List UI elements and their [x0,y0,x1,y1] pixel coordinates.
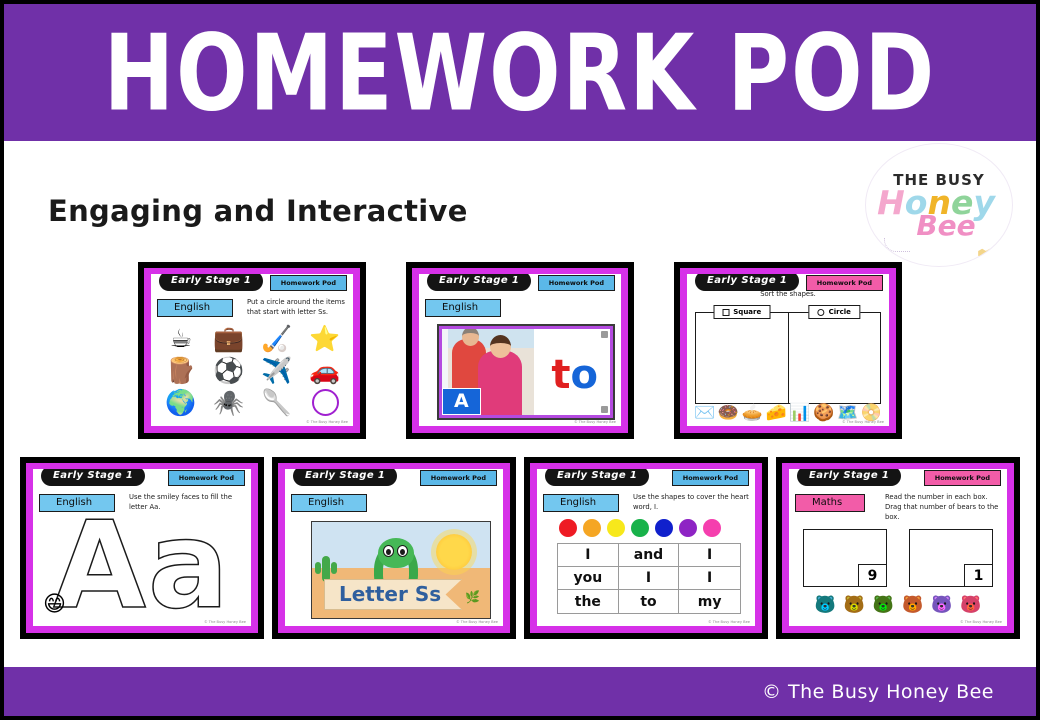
card-row-top: Early Stage 1 Homework Pod English Put a… [4,262,1036,439]
bear-counter-red[interactable]: 🐻 [960,597,981,614]
smiley-face-icon[interactable]: 😄 [43,594,66,616]
sorting-area: Square Circle [695,312,881,404]
stage-badge: Early Stage 1 [545,469,649,486]
bear-counters-row: 🐻 🐻 🐻 🐻 🐻 🐻 [789,597,1007,614]
card-content: Early Stage 1 Homework Pod Maths Read th… [789,469,1007,626]
spoon-icon[interactable]: 🥄 [261,390,292,415]
number-box[interactable]: 9 [803,529,887,587]
donut-icon[interactable]: 🍩 [718,405,739,422]
card-content: Early Stage 1 Homework Pod English Use t… [537,469,755,626]
instruction-text: Read the number in each box. Drag that n… [885,493,1001,523]
circle-icon [818,309,825,316]
stage-badge: Early Stage 1 [797,469,901,486]
slide-card-trace-aa[interactable]: Early Stage 1 Homework Pod English Use t… [20,457,264,639]
mug-icon[interactable]: ☕ [170,326,192,351]
sort-column-square[interactable]: Square [696,313,788,403]
snake-head [378,538,414,568]
card-frame: Early Stage 1 Homework Pod English Use t… [26,463,258,633]
bear-counter-yellow[interactable]: 🐻 [844,597,865,614]
star-icon[interactable]: ⭐ [309,326,340,351]
word-cell[interactable]: I [558,544,619,567]
sort-header-square: Square [713,305,770,319]
scene-banner-label: Letter Ss [324,579,462,610]
footer-credit: © The Busy Honey Bee [762,681,994,703]
footer-banner: © The Busy Honey Bee [4,667,1036,716]
word-cell[interactable]: I [679,544,740,567]
instruction-text: Put a circle around the items that start… [247,298,347,318]
envelope-icon[interactable]: ✉️ [694,405,715,422]
word-cell[interactable]: my [679,590,740,613]
sort-label: Square [733,308,761,316]
dot-yellow[interactable] [607,519,625,537]
brand-logo: THE BUSY Honey Bee ⬢⬢⬢ [865,143,1013,267]
spider-icon[interactable]: 🕷️ [213,390,244,415]
dot-orange[interactable] [583,519,601,537]
number-label: 9 [858,564,886,586]
slide-card-letter-ss-sort[interactable]: Early Stage 1 Homework Pod English Put a… [138,262,366,439]
header-banner: HOMEWORK POD [4,4,1036,141]
video-letter-badge: A [442,388,481,415]
sort-header-circle: Circle [809,305,860,319]
person-right [478,351,522,415]
pizza-icon[interactable]: 🥧 [742,405,763,422]
subject-tag: English [291,494,367,512]
slide-card-video-to[interactable]: Early Stage 1 Homework Pod English to A [406,262,634,439]
dot-green[interactable] [631,519,649,537]
sort-label: Circle [829,308,851,316]
card-credit: © The Busy Honey Bee [204,620,246,624]
scene-thumbnail[interactable]: 🌿 Letter Ss [311,521,491,619]
sort-column-circle[interactable]: Circle [788,313,881,403]
video-corner-handle[interactable] [601,406,608,413]
soccer-girl-icon[interactable]: ⚽ [213,358,244,383]
pod-badge: Homework Pod [168,470,245,486]
snake-eye-right [397,545,408,557]
card-credit: © The Busy Honey Bee [574,420,616,424]
card-frame: Early Stage 1 Homework Pod English 🌿 Let… [278,463,510,633]
square-icon [722,309,729,316]
word-cell[interactable]: to [619,590,680,613]
dot-purple[interactable] [679,519,697,537]
globe-icon[interactable]: 🌍 [165,390,196,415]
stage-badge: Early Stage 1 [427,274,531,291]
bear-counter-blue[interactable]: 🐻 [814,597,835,614]
word-cell[interactable]: I [619,567,680,590]
stage-badge: Early Stage 1 [41,469,145,486]
card-frame: Early Stage 1 Homework Pod English Put a… [144,268,360,433]
cookie-icon[interactable]: 🍪 [813,405,834,422]
dot-pink[interactable] [703,519,721,537]
card-content: Early Stage 1 Homework Pod English 🌿 Let… [285,469,503,626]
cactus-icon [322,556,330,582]
number-box[interactable]: 1 [909,529,993,587]
circle-outline-icon[interactable] [312,389,339,416]
pod-badge: Homework Pod [924,470,1001,486]
sun-icon [436,534,472,570]
card-frame: Early Stage 1 Homework Pod Sort the shap… [680,268,896,433]
bear-counter-green[interactable]: 🐻 [873,597,894,614]
subject-tag: English [543,494,619,512]
slide-page: HOMEWORK POD THE BUSY Honey Bee ⬢⬢⬢ Enga… [0,0,1040,720]
stage-badge: Early Stage 1 [293,469,397,486]
subject-tag: Maths [795,494,865,512]
word-grid: I and I you I I the to my [557,543,741,614]
car-icon[interactable]: 🚗 [309,358,340,383]
card-frame: Early Stage 1 Homework Pod English to A [412,268,628,433]
card-content: Early Stage 1 Homework Pod Sort the shap… [687,274,889,426]
word-cell[interactable]: I [679,567,740,590]
stage-badge: Early Stage 1 [159,274,263,291]
subject-tag: English [39,494,115,512]
bear-counter-purple[interactable]: 🐻 [931,597,952,614]
stage-badge: Early Stage 1 [695,274,799,291]
cheese-icon[interactable]: 🧀 [765,405,786,422]
video-frame: to A [442,329,610,415]
subject-tag: English [425,299,501,317]
video-corner-handle[interactable] [601,331,608,338]
number-boxes: 9 1 [803,529,993,587]
card-credit: © The Busy Honey Bee [708,620,750,624]
slide-card-letter-ss-video[interactable]: Early Stage 1 Homework Pod English 🌿 Let… [272,457,516,639]
pod-badge: Homework Pod [538,275,615,291]
pod-badge: Homework Pod [672,470,749,486]
instruction-text: Use the shapes to cover the heart word, … [633,493,749,513]
card-credit: © The Busy Honey Bee [306,420,348,424]
airplane-icon[interactable]: ✈️ [261,358,292,383]
slide-card-sort-shapes[interactable]: Early Stage 1 Homework Pod Sort the shap… [674,262,902,439]
net-icon[interactable]: 🏑 [261,326,292,351]
dot-red[interactable] [559,519,577,537]
word-cell[interactable]: the [558,590,619,613]
card-row-bottom: Early Stage 1 Homework Pod English Use t… [4,457,1036,639]
pod-badge: Homework Pod [806,275,883,291]
card-content: Early Stage 1 Homework Pod English to A [419,274,621,426]
card-credit: © The Busy Honey Bee [960,620,1002,624]
card-credit: © The Busy Honey Bee [456,620,498,624]
pod-badge: Homework Pod [420,470,497,486]
snake-eye-left [383,545,394,557]
chart-icon[interactable]: 📊 [789,405,810,422]
word-cell[interactable]: you [558,567,619,590]
bear-counter-orange[interactable]: 🐻 [902,597,923,614]
card-content: Early Stage 1 Homework Pod English Put a… [151,274,353,426]
logo-bee-text: Bee [916,213,975,240]
slide-card-heart-word[interactable]: Early Stage 1 Homework Pod English Use t… [524,457,768,639]
card-frame: Early Stage 1 Homework Pod English Use t… [530,463,762,633]
card-content: Early Stage 1 Homework Pod English Use t… [33,469,251,626]
honeycomb-icon: ⬢⬢⬢ [977,247,1000,260]
pod-badge: Homework Pod [270,275,347,291]
subject-tag: English [157,299,233,317]
section-subtitle: Engaging and Interactive [48,194,468,228]
slide-card-count-bears[interactable]: Early Stage 1 Homework Pod Maths Read th… [776,457,1020,639]
stump-icon[interactable]: 🪵 [165,358,196,383]
word-cell[interactable]: and [619,544,680,567]
suitcase-icon[interactable]: 💼 [213,326,244,351]
number-label: 1 [964,564,992,586]
card-credit: © The Busy Honey Bee [842,420,884,424]
plant-icon: 🌿 [465,590,480,604]
dot-blue[interactable] [655,519,673,537]
picture-grid: ☕ 💼 🏑 ⭐ 🪵 ⚽ ✈️ 🚗 🌍 🕷️ 🥄 [157,322,349,418]
color-dots-row [559,519,721,537]
page-title: HOMEWORK POD [104,20,936,125]
card-frame: Early Stage 1 Homework Pod Maths Read th… [782,463,1014,633]
logo-swirl-icon [884,238,910,252]
instruction-text: Sort the shapes. [693,290,883,300]
video-word: to [551,355,598,395]
video-embed[interactable]: to A [437,324,615,420]
